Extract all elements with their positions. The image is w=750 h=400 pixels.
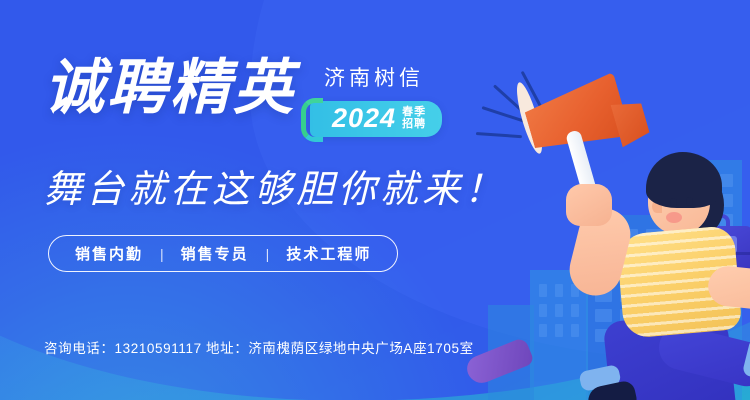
year-label: 2024 [332, 105, 396, 132]
job-positions-pill: 销售内勤 | 销售专员 | 技术工程师 [48, 235, 398, 272]
hero-illustration [470, 48, 750, 378]
character-hand-left [566, 184, 612, 226]
character-eye [670, 198, 677, 207]
job-position-1: 销售内勤 [75, 243, 143, 264]
character-hair [646, 152, 722, 208]
contact-footer: 咨询电话：13210591117 地址：济南槐荫区绿地中央广场A座1705室 [44, 337, 474, 357]
year-badge: 2024 春季 招聘 [310, 101, 442, 137]
headline-row: 诚聘精英 济南树信 2024 春季 招聘 [44, 58, 442, 137]
page-subtitle: 舞台就在这够胆你就来！ [44, 158, 506, 213]
badge-line-2: 招聘 [402, 119, 426, 130]
job-separator: | [160, 246, 164, 262]
badge-accent-stroke [301, 98, 323, 142]
badge-column: 济南树信 2024 春季 招聘 [310, 62, 442, 137]
recruitment-banner: 诚聘精英 济南树信 2024 春季 招聘 舞台就在这够胆你就来！ 销售内勤 | … [0, 0, 750, 400]
company-name: 济南树信 [324, 62, 424, 92]
motion-line [476, 132, 522, 138]
job-separator: | [266, 246, 270, 262]
page-title: 诚聘精英 [44, 58, 296, 118]
character-cheek [666, 212, 682, 223]
character-eye [686, 197, 693, 206]
job-position-3: 技术工程师 [286, 243, 371, 264]
badge-line-1: 春季 [402, 107, 426, 118]
job-position-2: 销售专员 [181, 243, 249, 264]
badge-subtext: 春季 招聘 [402, 107, 426, 129]
